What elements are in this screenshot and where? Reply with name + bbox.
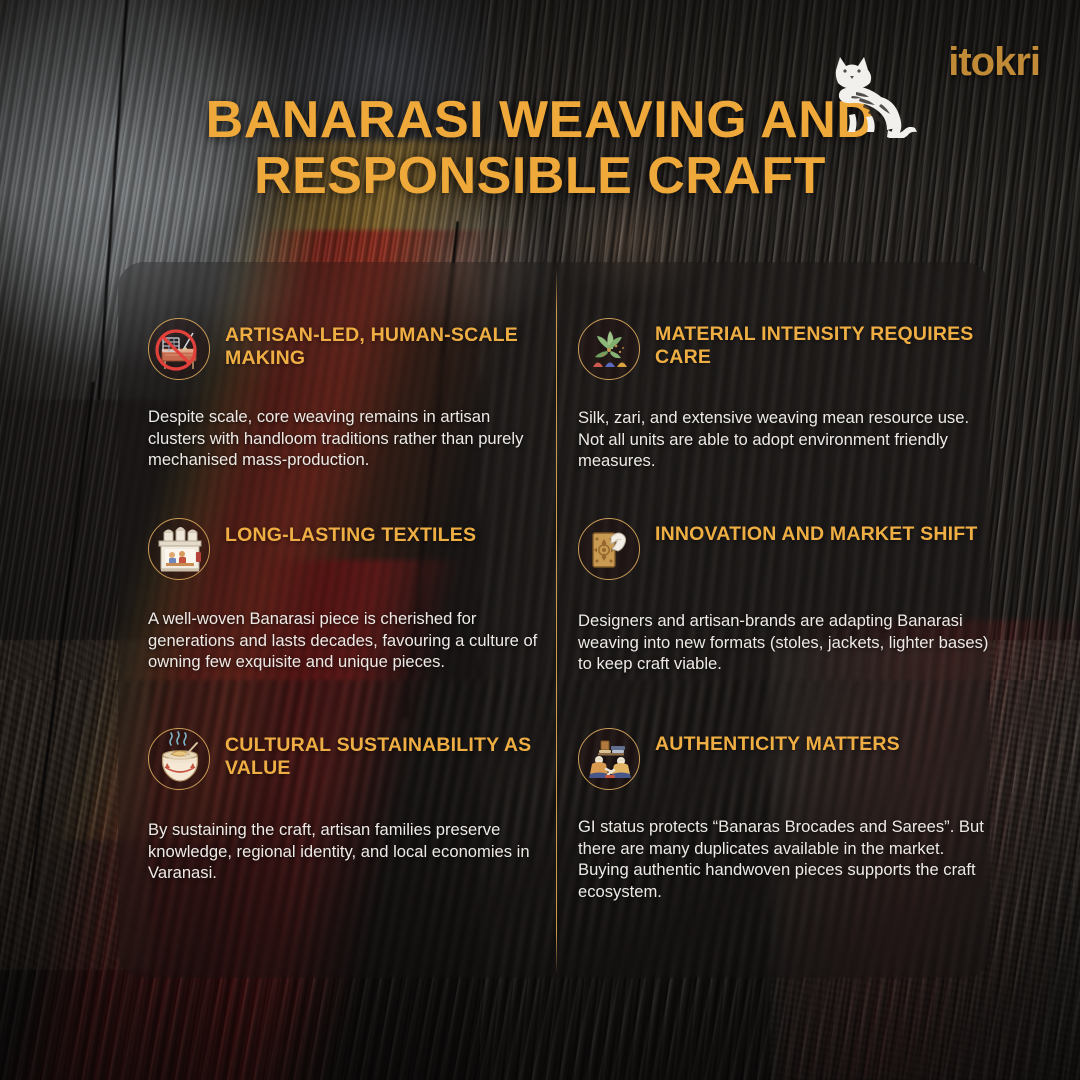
page-title-line-1: BANARASI WEAVING AND bbox=[206, 91, 875, 149]
info-block-body: GI status protects “Banaras Brocades and… bbox=[578, 816, 990, 902]
info-block-title: MATERIAL INTENSITY REQUIRES CARE bbox=[655, 318, 990, 368]
info-block-material-intensity: MATERIAL INTENSITY REQUIRES CARE Silk, z… bbox=[578, 318, 990, 472]
info-block-artisan-led: ARTISAN-LED, HUMAN-SCALE MAKING Despite … bbox=[148, 318, 548, 471]
cat-illustration-icon bbox=[822, 52, 922, 138]
info-block-header: INNOVATION AND MARKET SHIFT bbox=[578, 518, 990, 580]
info-block-title: AUTHENTICITY MATTERS bbox=[655, 728, 900, 756]
info-block-title: ARTISAN-LED, HUMAN-SCALE MAKING bbox=[225, 318, 548, 369]
info-block-body: By sustaining the craft, artisan familie… bbox=[148, 819, 548, 884]
info-block-long-lasting-textiles: LONG-LASTING TEXTILES A well-woven Banar… bbox=[148, 518, 548, 673]
two-artisans-icon bbox=[578, 728, 640, 790]
brand-logo-text: itokri bbox=[948, 42, 1040, 82]
info-block-authenticity-matters: AUTHENTICITY MATTERS GI status protects … bbox=[578, 728, 990, 902]
info-block-innovation-market-shift: INNOVATION AND MARKET SHIFT Designers an… bbox=[578, 518, 990, 675]
info-block-cultural-sustainability: CULTURAL SUSTAINABILITY AS VALUE By sust… bbox=[148, 728, 548, 884]
info-block-header: LONG-LASTING TEXTILES bbox=[148, 518, 548, 580]
info-block-body: Silk, zari, and extensive weaving mean r… bbox=[578, 407, 990, 472]
artisan-shop-icon bbox=[148, 518, 210, 580]
info-block-header: CULTURAL SUSTAINABILITY AS VALUE bbox=[148, 728, 548, 790]
info-block-title: INNOVATION AND MARKET SHIFT bbox=[655, 518, 977, 546]
no-machine-loom-icon bbox=[148, 318, 210, 380]
info-block-header: AUTHENTICITY MATTERS bbox=[578, 728, 990, 790]
natural-dye-leaves-icon bbox=[578, 318, 640, 380]
column-divider bbox=[556, 268, 557, 974]
info-block-body: Despite scale, core weaving remains in a… bbox=[148, 406, 548, 471]
brand-logo[interactable]: itokri bbox=[948, 42, 1040, 82]
page-title-line-2: RESPONSIBLE CRAFT bbox=[0, 148, 1080, 204]
info-block-header: ARTISAN-LED, HUMAN-SCALE MAKING bbox=[148, 318, 548, 380]
header: BANARASI WEAVING AND RESPONSIBLE CRAFT i… bbox=[0, 0, 1080, 250]
info-block-title: CULTURAL SUSTAINABILITY AS VALUE bbox=[225, 728, 548, 779]
info-block-body: Designers and artisan-brands are adaptin… bbox=[578, 610, 990, 675]
info-block-body: A well-woven Banarasi piece is cherished… bbox=[148, 608, 548, 673]
info-block-title: LONG-LASTING TEXTILES bbox=[225, 518, 476, 547]
hand-holding-fabric-icon bbox=[578, 518, 640, 580]
info-block-header: MATERIAL INTENSITY REQUIRES CARE bbox=[578, 318, 990, 380]
dye-pot-icon bbox=[148, 728, 210, 790]
